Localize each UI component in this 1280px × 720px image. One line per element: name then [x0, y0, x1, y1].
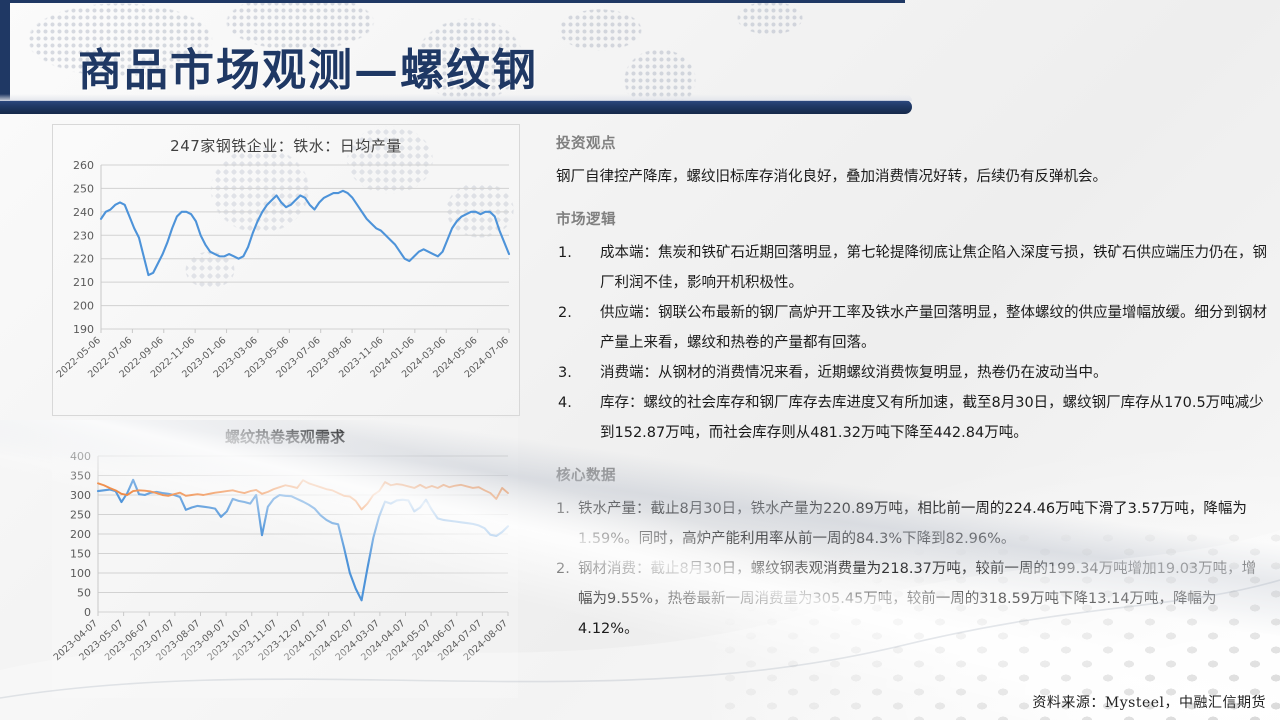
header-top-rule — [0, 0, 905, 3]
chart-iron-output-plot: 1902002102202302402502602022-05-062022-0… — [53, 125, 519, 415]
header-left-accent-bar — [0, 0, 10, 104]
market-logic-item-number: 4. — [558, 388, 572, 418]
market-logic-list: 1.成本端：焦炭和铁矿石近期回落明显，第七轮提降彻底让焦企陷入深度亏损，铁矿石供… — [556, 238, 1268, 448]
series-line-0 — [101, 191, 509, 275]
y-axis-tick-label: 300 — [70, 489, 91, 502]
section-heading-core-data: 核心数据 — [556, 464, 1268, 485]
core-data-item: 1.铁水产量：截止8月30日，铁水产量为220.89万吨，相比前一周的224.4… — [556, 494, 1268, 554]
market-logic-item-text: 供应端：钢联公布最新的钢厂高炉开工率及铁水产量回落明显，整体螺纹的供应量增幅放缓… — [600, 305, 1267, 351]
core-data-item: 2.钢材消费：截止8月30日，螺纹钢表观消费量为218.37万吨，较前一周的19… — [556, 554, 1268, 644]
chart-apparent-demand-plot: 0501001502002503003504002023-04-072023-0… — [52, 418, 518, 698]
y-axis-tick-label: 50 — [77, 587, 91, 600]
y-axis-tick-label: 100 — [70, 567, 91, 580]
y-axis-tick-label: 250 — [73, 182, 94, 195]
market-logic-item-text: 成本端：焦炭和铁矿石近期回落明显，第七轮提降彻底让焦企陷入深度亏损，铁矿石供应端… — [600, 245, 1267, 291]
market-logic-item: 1.成本端：焦炭和铁矿石近期回落明显，第七轮提降彻底让焦企陷入深度亏损，铁矿石供… — [556, 238, 1268, 298]
investment-view-text: 钢厂自律控产降库，螺纹旧标库存消化良好，叠加消费情况好转，后续仍有反弹机会。 — [556, 162, 1268, 192]
y-axis-tick-label: 250 — [70, 509, 91, 522]
chart-iron-output-title: 247家钢铁企业：铁水：日均产量 — [53, 135, 519, 156]
y-axis-tick-label: 350 — [70, 470, 91, 483]
chart-apparent-demand: 螺纹热卷表观需求 0501001502002503003504002023-04… — [52, 418, 518, 698]
analysis-panel: 投资观点 钢厂自律控产降库，螺纹旧标库存消化良好，叠加消费情况好转，后续仍有反弹… — [556, 132, 1268, 692]
section-heading-investment-view: 投资观点 — [556, 132, 1268, 153]
y-axis-tick-label: 200 — [73, 300, 94, 313]
market-logic-item: 4.库存：螺纹的社会库存和钢厂库存去库进度又有所加速，截至8月30日，螺纹钢厂库… — [556, 388, 1268, 448]
page-title: 商品市场观测—螺纹钢 — [78, 34, 538, 98]
source-attribution: 资料来源：Mysteel，中融汇信期货 — [1032, 692, 1266, 712]
y-axis-tick-label: 190 — [73, 323, 94, 336]
header-underline-bar — [0, 100, 912, 114]
y-axis-tick-label: 260 — [73, 159, 94, 172]
y-axis-tick-label: 150 — [70, 548, 91, 561]
core-data-item-number: 2. — [556, 554, 570, 584]
y-axis-tick-label: 200 — [70, 528, 91, 541]
y-axis-tick-label: 0 — [84, 606, 91, 619]
core-data-list: 1.铁水产量：截止8月30日，铁水产量为220.89万吨，相比前一周的224.4… — [556, 494, 1268, 644]
market-logic-item: 3.消费端：从钢材的消费情况来看，近期螺纹消费恢复明显，热卷仍在波动当中。 — [556, 358, 1268, 388]
series-line-0 — [98, 480, 508, 601]
chart-iron-output: 247家钢铁企业：铁水：日均产量 19020021022023024025026… — [52, 124, 520, 416]
market-logic-item-number: 1. — [558, 238, 572, 268]
core-data-item-number: 1. — [556, 494, 570, 524]
market-logic-item-text: 库存：螺纹的社会库存和钢厂库存去库进度又有所加速，截至8月30日，螺纹钢厂库存从… — [600, 395, 1264, 441]
slide-root: 商品市场观测—螺纹钢 247家钢铁企业：铁水：日均产量 190200210220… — [0, 0, 1280, 720]
market-logic-item-number: 3. — [558, 358, 572, 388]
core-data-item-text: 钢材消费：截止8月30日，螺纹钢表观消费量为218.37万吨，较前一周的199.… — [578, 561, 1256, 637]
chart-apparent-demand-title: 螺纹热卷表观需求 — [52, 426, 518, 447]
y-axis-tick-label: 210 — [73, 276, 94, 289]
y-axis-tick-label: 230 — [73, 229, 94, 242]
core-data-item-text: 铁水产量：截止8月30日，铁水产量为220.89万吨，相比前一周的224.46万… — [578, 501, 1247, 547]
market-logic-item: 2.供应端：钢联公布最新的钢厂高炉开工率及铁水产量回落明显，整体螺纹的供应量增幅… — [556, 298, 1268, 358]
section-heading-market-logic: 市场逻辑 — [556, 208, 1268, 229]
y-axis-tick-label: 400 — [70, 450, 91, 463]
market-logic-item-text: 消费端：从钢材的消费情况来看，近期螺纹消费恢复明显，热卷仍在波动当中。 — [600, 365, 1108, 381]
market-logic-item-number: 2. — [558, 298, 572, 328]
y-axis-tick-label: 240 — [73, 206, 94, 219]
y-axis-tick-label: 220 — [73, 253, 94, 266]
